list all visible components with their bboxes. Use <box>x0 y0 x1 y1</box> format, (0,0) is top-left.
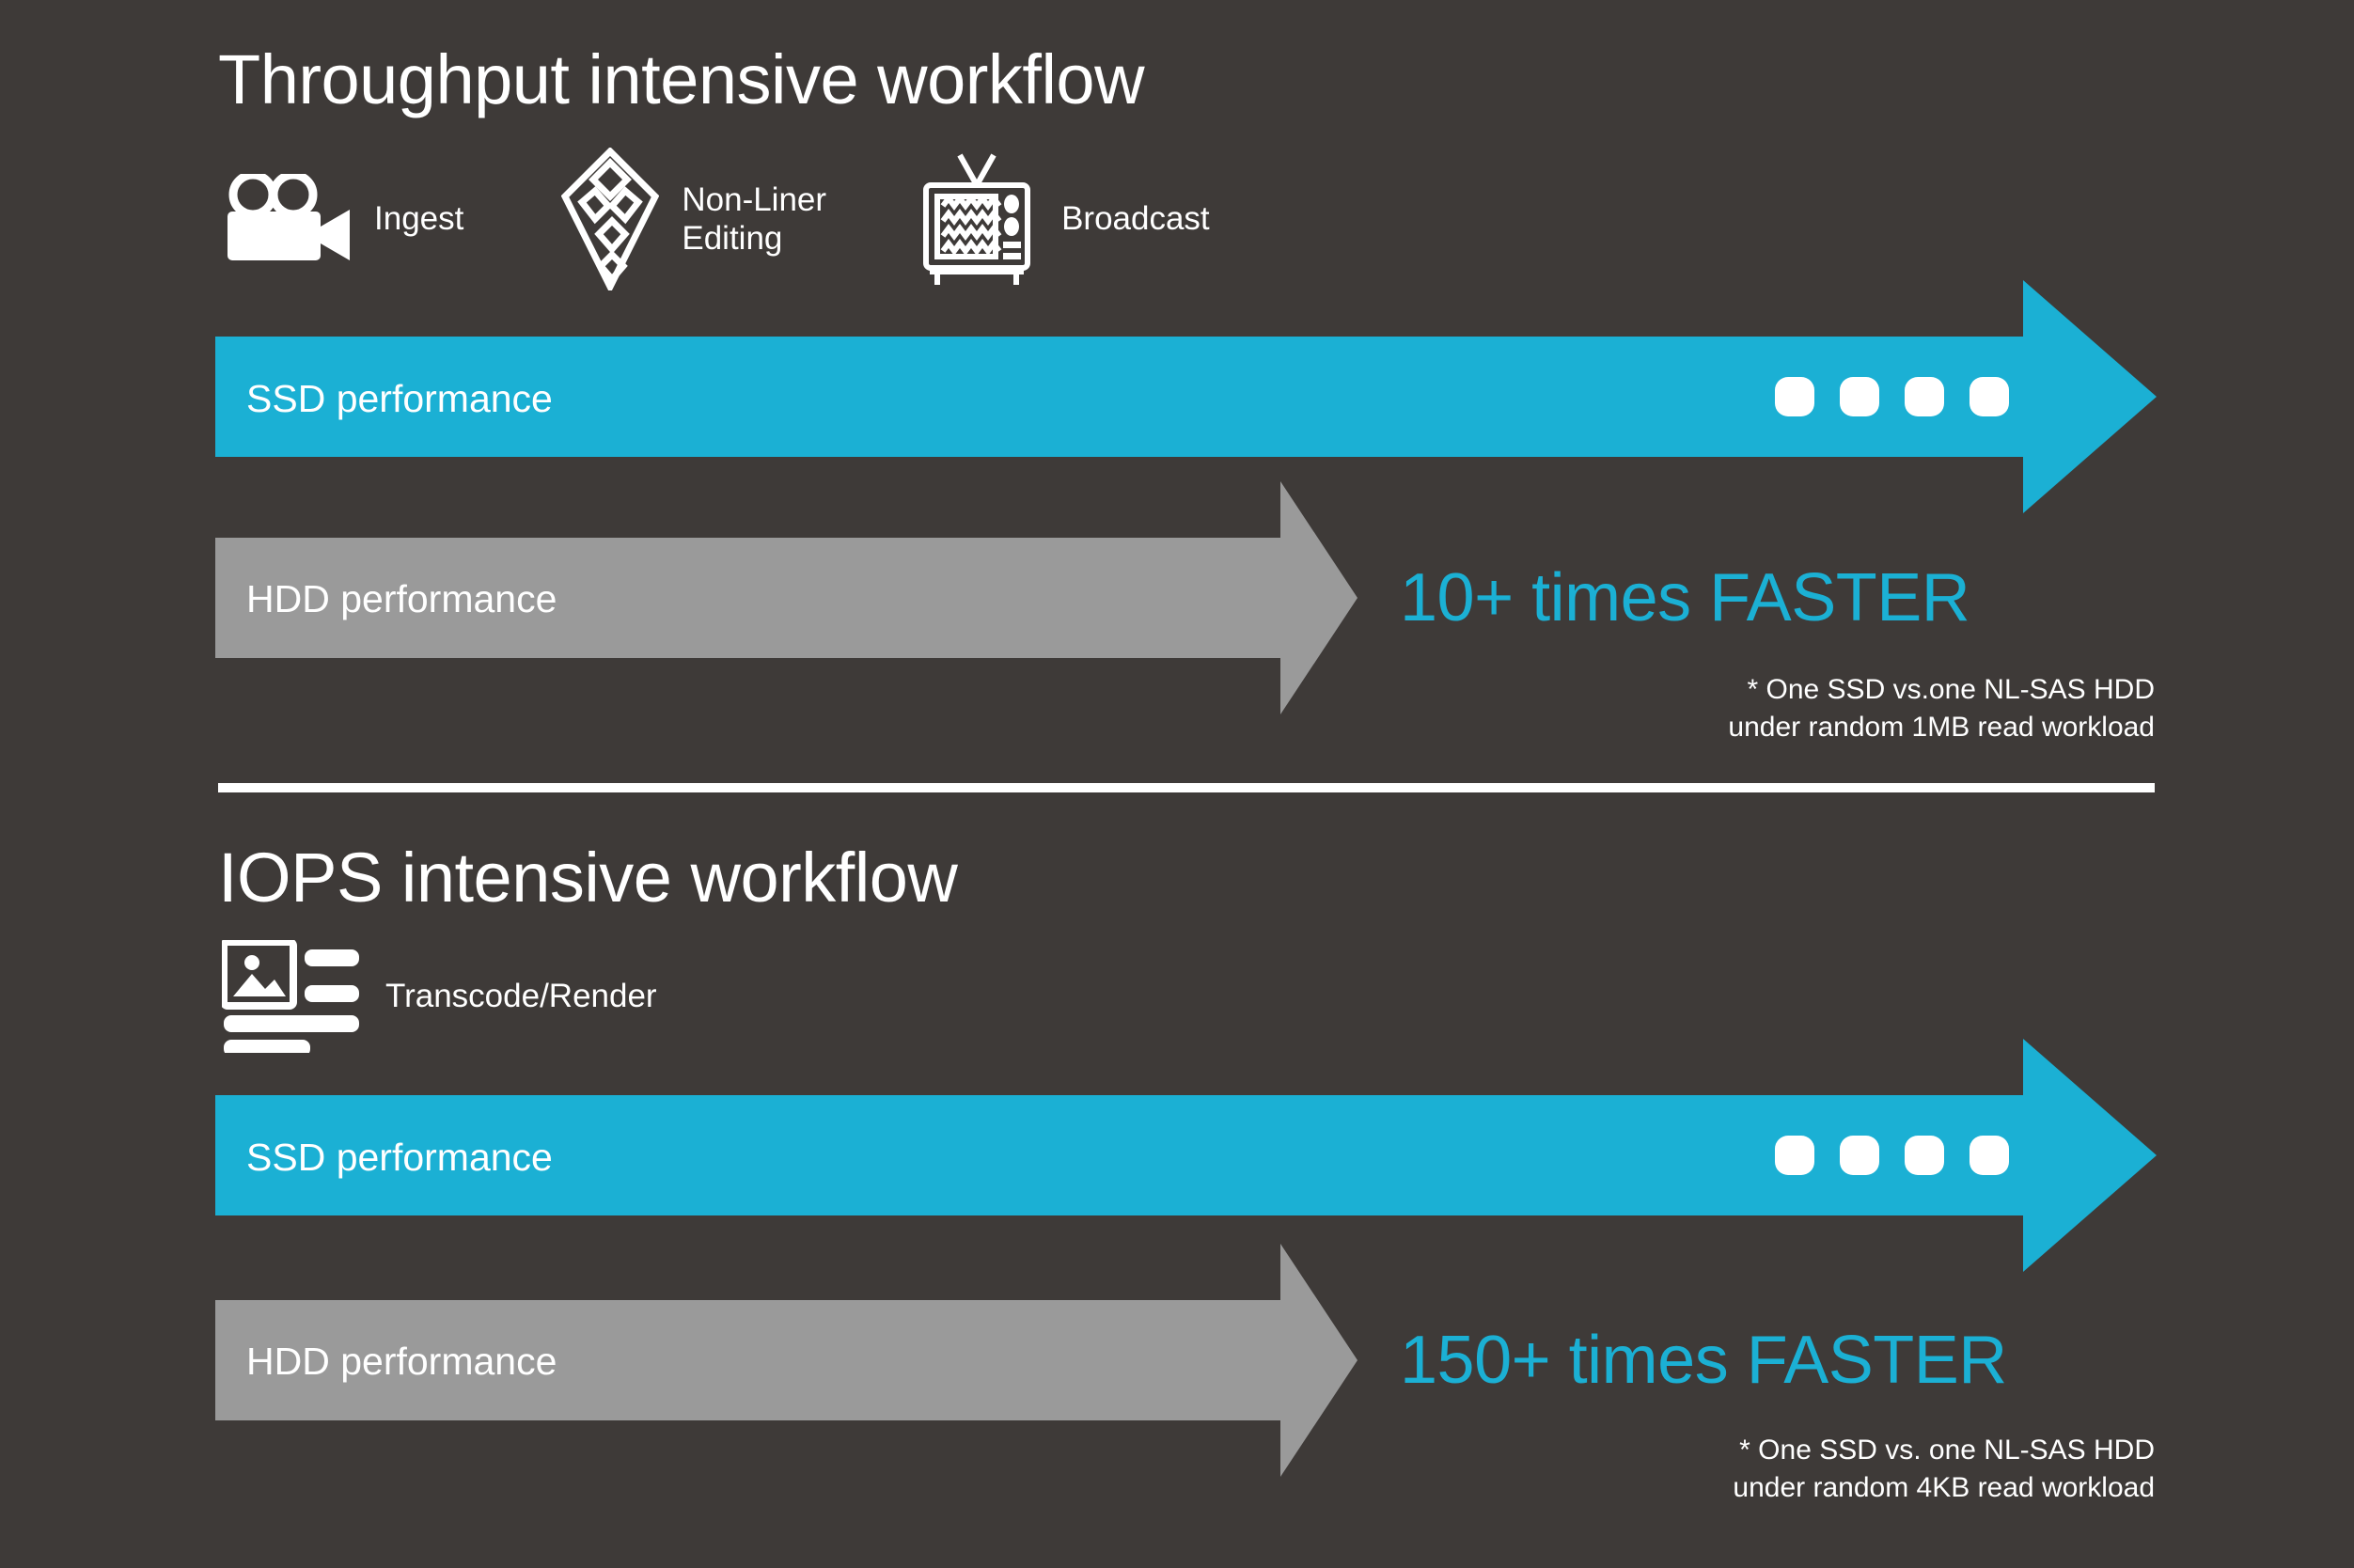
workflow-label-nonlinear-editing: Non-Liner Editing <box>682 180 826 259</box>
workflow-label-ingest: Ingest <box>374 199 463 238</box>
hdd-performance-label-throughput: HDD performance <box>246 580 557 619</box>
ssd-dot <box>1840 1136 1879 1175</box>
workflow-item-ingest: Ingest <box>222 167 463 271</box>
ssd-performance-label-throughput: SSD performance <box>246 380 553 418</box>
hdd-performance-label-iops: HDD performance <box>246 1342 557 1381</box>
headline-iops: 150+ times FASTER <box>1400 1326 2007 1394</box>
section-divider <box>218 783 2155 792</box>
ssd-dot <box>1905 377 1944 416</box>
ssd-dot <box>1840 377 1879 416</box>
workflow-item-transcode-render: Transcode/Render <box>222 945 657 1048</box>
workflow-row-iops: Transcode/Render <box>222 945 657 1048</box>
workflow-item-broadcast: Broadcast <box>915 167 1210 271</box>
film-strip-icon <box>561 148 659 290</box>
ssd-dots-throughput <box>1775 377 2009 416</box>
ssd-dot <box>1775 377 1814 416</box>
image-document-icon <box>222 940 363 1053</box>
video-camera-icon <box>222 174 352 264</box>
workflow-label-transcode-render: Transcode/Render <box>385 977 657 1015</box>
section-title-throughput: Throughput intensive workflow <box>218 45 1144 115</box>
ssd-dot <box>1970 1136 2009 1175</box>
ssd-dots-iops <box>1775 1136 2009 1175</box>
workflow-label-broadcast: Broadcast <box>1061 199 1210 238</box>
section-title-iops: IOPS intensive workflow <box>218 843 957 913</box>
ssd-dot <box>1905 1136 1944 1175</box>
workflow-row-throughput: Ingest Non-Liner Editing <box>222 167 1210 271</box>
ssd-dot <box>1775 1136 1814 1175</box>
footnote-throughput: * One SSD vs.one NL-SAS HDD under random… <box>1128 671 2155 745</box>
ssd-dot <box>1970 377 2009 416</box>
headline-throughput: 10+ times FASTER <box>1400 564 1970 632</box>
footnote-iops: * One SSD vs. one NL-SAS HDD under rando… <box>1128 1432 2155 1506</box>
television-icon <box>915 149 1039 289</box>
workflow-item-nonlinear-editing: Non-Liner Editing <box>561 167 826 271</box>
ssd-performance-label-iops: SSD performance <box>246 1138 553 1177</box>
infographic-canvas: Throughput intensive workflow Ingest <box>0 0 2354 1568</box>
